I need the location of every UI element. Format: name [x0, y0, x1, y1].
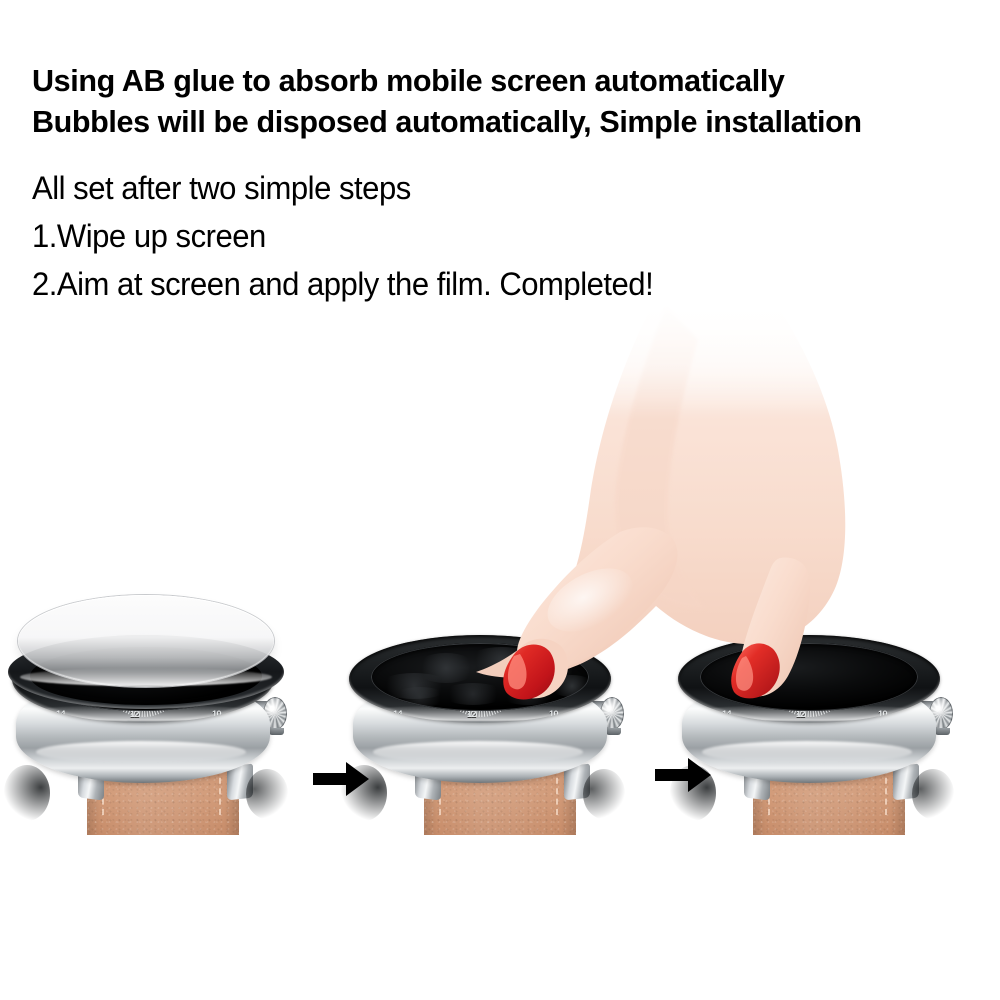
bezel-numeral: 16: [32, 709, 41, 719]
bezel-numeral: 18: [18, 709, 27, 719]
screen-protector-film: [18, 595, 274, 687]
instructions-intro: All set after two simple steps: [32, 164, 963, 212]
case-shadow-right: [246, 769, 288, 819]
bezel-numeral: 8: [914, 709, 919, 719]
bezel-numeral: 16: [698, 709, 707, 719]
crown-stem: [606, 728, 621, 735]
hand-top-fade: [470, 300, 850, 420]
adhesive-bubble: [393, 687, 447, 707]
bezel-numeral: 18: [355, 709, 364, 719]
hand-applying-film: [470, 300, 850, 700]
smartwatch-with-floating-film: 18161412108: [2, 595, 332, 835]
case-shadow-right: [912, 769, 954, 819]
headline-line-2: Bubbles will be disposed automatically, …: [32, 101, 978, 143]
case-highlight: [702, 741, 912, 763]
case-shadow-right: [583, 769, 625, 819]
case-shadow-left: [4, 765, 50, 821]
arrow-step-2-to-3: [655, 758, 711, 792]
case-highlight: [373, 741, 583, 763]
bezel-numeral: 10: [878, 709, 887, 719]
crown-stem: [269, 728, 284, 735]
arrow-step-1-to-2: [313, 762, 369, 796]
bezel-numeral: 8: [248, 709, 253, 719]
bezel-numeral: 10: [212, 709, 221, 719]
instruction-step-1: 1.Wipe up screen: [32, 212, 963, 260]
panel-step-align-film: 18161412108: [2, 545, 332, 835]
bezel-numeral: 18: [684, 709, 693, 719]
instruction-text-block: Using AB glue to absorb mobile screen au…: [32, 60, 992, 308]
crown-stem: [935, 728, 950, 735]
headline-line-1: Using AB glue to absorb mobile screen au…: [32, 60, 978, 102]
film-edge-highlight: [20, 668, 272, 686]
case-highlight: [36, 741, 246, 763]
bezel-numeral: 14: [722, 709, 731, 719]
bezel-numeral: 14: [56, 709, 65, 719]
